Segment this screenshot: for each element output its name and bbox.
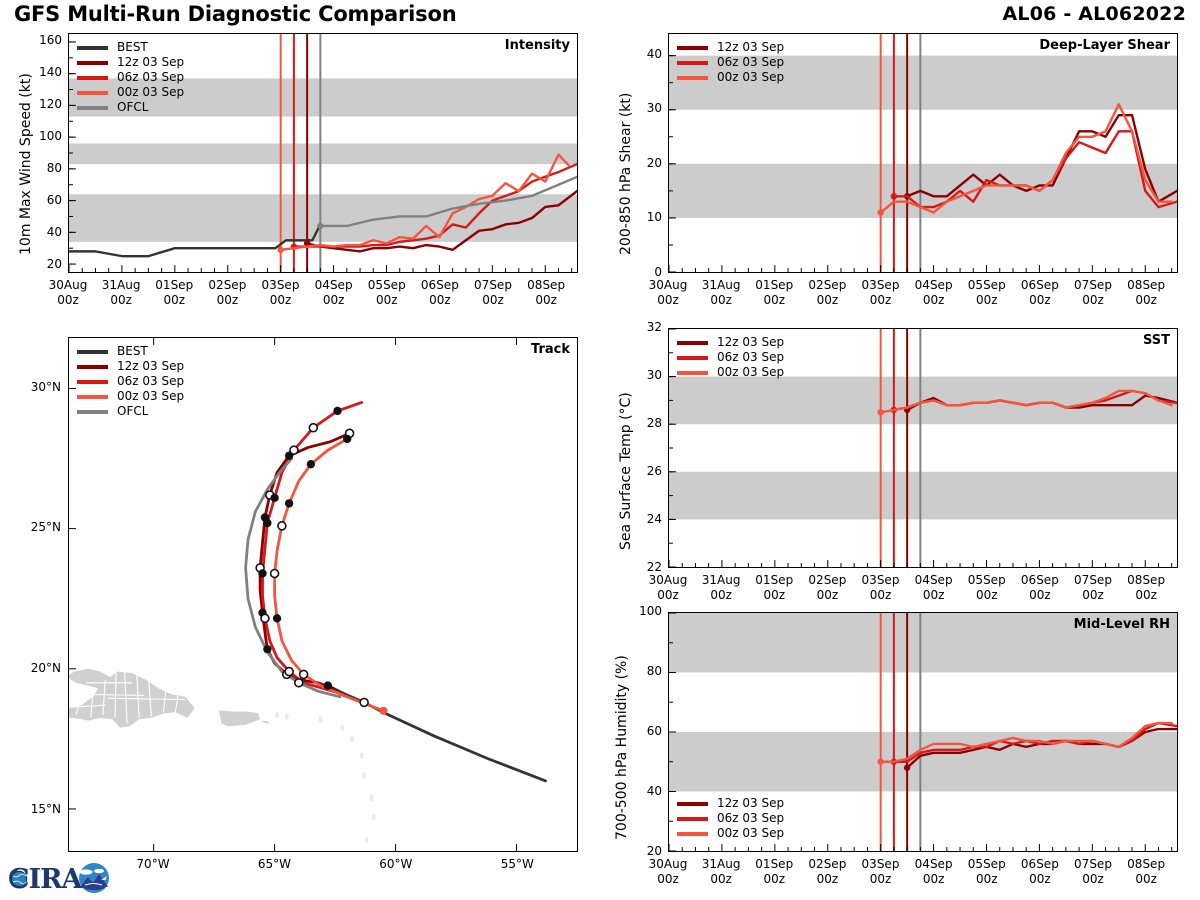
legend-label: 12z 03 Sep	[117, 359, 184, 374]
legend-label: 06z 03 Sep	[717, 55, 784, 70]
track-marker-start	[379, 707, 387, 715]
x-tick-label: 06Sep00z	[1010, 857, 1070, 887]
x-tick-label: 02Sep00z	[797, 857, 857, 887]
x-tick-label: 30Aug00z	[638, 573, 698, 603]
legend-swatch	[677, 61, 708, 65]
track-marker-00z	[273, 614, 281, 622]
legend-swatch	[77, 380, 108, 384]
x-tick-label: 30Aug00z	[638, 857, 698, 887]
shaded-band	[669, 472, 1177, 520]
x-tick-label: 07Sep00z	[1063, 278, 1123, 308]
x-tick-label: 08Sep00z	[1116, 573, 1176, 603]
legend-entry: 00z 03 Sep	[677, 826, 784, 841]
x-tick-label: 01Sep00z	[744, 278, 804, 308]
legend-entry: OFCL	[77, 100, 184, 115]
track-marker-00z	[263, 519, 271, 527]
track-panel-title: Track	[531, 342, 570, 357]
legend-entry: 00z 03 Sep	[77, 389, 184, 404]
shaded-band	[69, 143, 577, 164]
legend-entry: 00z 03 Sep	[77, 85, 184, 100]
x-tick-label: 05Sep00z	[957, 573, 1017, 603]
x-tick-label: 31Aug00z	[91, 278, 151, 308]
legend-swatch	[677, 832, 708, 836]
shear-y-axis-label: 200-850 hPa Shear (kt)	[618, 93, 634, 255]
legend-label: 00z 03 Sep	[717, 70, 784, 85]
y-tick-label: 20	[622, 844, 662, 858]
y-tick-label: 26	[622, 464, 662, 478]
x-tick-label: 30Aug00z	[38, 278, 98, 308]
sst-legend: 12z 03 Sep06z 03 Sep00z 03 Sep	[677, 335, 784, 380]
legend-swatch	[77, 365, 108, 369]
series-start-marker	[877, 759, 883, 765]
x-tick-label: 04Sep00z	[304, 278, 364, 308]
track-marker-00z	[270, 494, 278, 502]
y-tick-label: 0	[622, 265, 662, 279]
legend-entry: 06z 03 Sep	[677, 55, 784, 70]
x-tick-label: 06Sep00z	[1010, 278, 1070, 308]
shaded-band	[669, 732, 1177, 792]
track-marker-12z	[271, 569, 279, 577]
lon-tick-label: 65°W	[244, 857, 304, 872]
y-tick-label: 140	[22, 65, 62, 79]
series-start-marker	[877, 409, 883, 415]
track-marker-00z	[285, 499, 293, 507]
small-island	[360, 752, 364, 759]
legend-label: 06z 03 Sep	[117, 374, 184, 389]
rh-y-axis-label: 700-500 hPa Humidity (%)	[614, 655, 630, 840]
legend-swatch	[677, 817, 708, 821]
track-marker-00z	[258, 569, 266, 577]
lat-tick-label: 15°N	[6, 802, 61, 816]
figure-header: GFS Multi-Run Diagnostic Comparison AL06…	[0, 0, 1200, 30]
x-tick-label: 08Sep00z	[1116, 278, 1176, 308]
x-tick-label: 03Sep00z	[851, 278, 911, 308]
y-tick-label: 20	[622, 156, 662, 170]
legend-swatch	[677, 356, 708, 360]
legend-entry: 00z 03 Sep	[677, 365, 784, 380]
track-marker-12z	[309, 424, 317, 432]
legend-entry: 00z 03 Sep	[677, 70, 784, 85]
y-tick-label: 100	[22, 129, 62, 143]
series-start-marker	[277, 247, 283, 253]
cira-emblem	[79, 863, 109, 893]
legend-entry: 06z 03 Sep	[677, 811, 784, 826]
lat-tick-label: 20°N	[6, 661, 61, 675]
y-tick-label: 40	[22, 225, 62, 239]
legend-label: 12z 03 Sep	[117, 55, 184, 70]
x-tick-label: 05Sep00z	[357, 278, 417, 308]
legend-label: 00z 03 Sep	[117, 85, 184, 100]
land-shape	[263, 721, 269, 724]
small-island	[340, 724, 344, 731]
legend-swatch	[77, 61, 108, 65]
legend-entry: 06z 03 Sep	[677, 350, 784, 365]
track-marker-00z	[343, 435, 351, 443]
legend-label: 00z 03 Sep	[117, 389, 184, 404]
cira-logo: CIRA	[6, 858, 118, 898]
y-tick-label: 40	[622, 47, 662, 61]
y-tick-label: 10	[622, 210, 662, 224]
x-tick-label: 05Sep00z	[957, 278, 1017, 308]
x-tick-label: 31Aug00z	[691, 278, 751, 308]
legend-label: 06z 03 Sep	[717, 350, 784, 365]
legend-entry: BEST	[77, 344, 184, 359]
lat-tick-label: 25°N	[6, 520, 61, 534]
y-tick-label: 80	[622, 664, 662, 678]
x-tick-label: 03Sep00z	[251, 278, 311, 308]
x-tick-label: 03Sep00z	[851, 573, 911, 603]
y-tick-label: 28	[622, 416, 662, 430]
track-marker-12z	[360, 698, 368, 706]
y-tick-label: 30	[622, 101, 662, 115]
y-tick-label: 40	[622, 784, 662, 798]
sst-panel-title: SST	[1143, 333, 1170, 348]
x-tick-label: 02Sep00z	[797, 573, 857, 603]
track-legend: BEST12z 03 Sep06z 03 Sep00z 03 SepOFCL	[77, 344, 184, 419]
legend-entry: 12z 03 Sep	[677, 335, 784, 350]
legend-label: 12z 03 Sep	[717, 40, 784, 55]
legend-entry: 12z 03 Sep	[677, 796, 784, 811]
track-marker-00z	[324, 681, 332, 689]
track-marker-12z	[285, 668, 293, 676]
track-marker-00z	[307, 460, 315, 468]
rh-legend: 12z 03 Sep06z 03 Sep00z 03 Sep	[677, 796, 784, 841]
x-tick-label: 02Sep00z	[197, 278, 257, 308]
x-tick-label: 01Sep00z	[144, 278, 204, 308]
intensity-panel: Intensity BEST12z 03 Sep06z 03 Sep00z 03…	[68, 33, 578, 273]
legend-swatch	[77, 350, 108, 354]
legend-label: 00z 03 Sep	[717, 365, 784, 380]
legend-swatch	[677, 341, 708, 345]
lon-tick-label: 55°W	[487, 857, 547, 872]
x-tick-label: 06Sep00z	[1010, 573, 1070, 603]
x-tick-label: 07Sep00z	[1063, 573, 1123, 603]
legend-entry: 06z 03 Sep	[77, 70, 184, 85]
series-start-marker	[904, 765, 910, 771]
x-tick-label: 02Sep00z	[797, 278, 857, 308]
legend-label: 06z 03 Sep	[717, 811, 784, 826]
x-tick-label: 05Sep00z	[957, 857, 1017, 887]
y-tick-label: 32	[622, 320, 662, 334]
lon-tick-label: 60°W	[366, 857, 426, 872]
track-marker-12z	[278, 522, 286, 530]
legend-label: BEST	[117, 40, 148, 55]
legend-entry: BEST	[77, 40, 184, 55]
legend-entry: 12z 03 Sep	[77, 55, 184, 70]
legend-label: 06z 03 Sep	[117, 70, 184, 85]
legend-entry: 12z 03 Sep	[77, 359, 184, 374]
y-tick-label: 80	[22, 161, 62, 175]
track-marker-00z	[263, 645, 271, 653]
cira-wordmark: CIRA	[8, 864, 84, 895]
x-tick-label: 30Aug00z	[638, 278, 698, 308]
page-title: GFS Multi-Run Diagnostic Comparison	[14, 2, 456, 26]
x-tick-label: 08Sep00z	[516, 278, 576, 308]
x-tick-label: 08Sep00z	[1116, 857, 1176, 887]
x-tick-label: 31Aug00z	[691, 573, 751, 603]
x-tick-label: 01Sep00z	[744, 573, 804, 603]
track-marker-12z	[300, 670, 308, 678]
small-island	[285, 713, 289, 720]
legend-entry: 06z 03 Sep	[77, 374, 184, 389]
legend-swatch	[77, 395, 108, 399]
legend-label: OFCL	[117, 100, 148, 115]
x-tick-label: 06Sep00z	[410, 278, 470, 308]
y-tick-label: 60	[622, 724, 662, 738]
small-island	[350, 735, 354, 742]
track-marker-12z	[295, 679, 303, 687]
shear-panel: Deep-Layer Shear 12z 03 Sep06z 03 Sep00z…	[668, 33, 1178, 273]
legend-swatch	[677, 46, 708, 50]
small-island	[275, 712, 279, 719]
legend-label: BEST	[117, 344, 148, 359]
series-start-marker	[891, 193, 897, 199]
x-tick-label: 07Sep00z	[1063, 857, 1123, 887]
y-tick-label: 100	[622, 604, 662, 618]
small-island	[372, 814, 376, 821]
legend-swatch	[677, 371, 708, 375]
sst-panel: SST 12z 03 Sep06z 03 Sep00z 03 Sep	[668, 328, 1178, 568]
x-tick-label: 31Aug00z	[691, 857, 751, 887]
track-marker-00z	[333, 407, 341, 415]
x-tick-label: 04Sep00z	[904, 857, 964, 887]
y-tick-label: 22	[622, 560, 662, 574]
legend-label: 00z 03 Sep	[717, 826, 784, 841]
legend-label: 12z 03 Sep	[717, 796, 784, 811]
land-shape	[219, 710, 260, 726]
legend-swatch	[77, 91, 108, 95]
legend-swatch	[77, 76, 108, 80]
y-tick-label: 30	[622, 368, 662, 382]
shear-panel-title: Deep-Layer Shear	[1039, 38, 1170, 53]
figure-root: GFS Multi-Run Diagnostic Comparison AL06…	[0, 0, 1200, 900]
y-tick-label: 160	[22, 33, 62, 47]
track-marker-12z	[290, 446, 298, 454]
legend-swatch	[77, 410, 108, 414]
legend-swatch	[77, 106, 108, 110]
x-tick-label: 03Sep00z	[851, 857, 911, 887]
y-tick-label: 20	[22, 257, 62, 271]
legend-swatch	[677, 76, 708, 80]
track-panel: Track BEST12z 03 Sep06z 03 Sep00z 03 Sep…	[68, 337, 578, 852]
intensity-legend: BEST12z 03 Sep06z 03 Sep00z 03 SepOFCL	[77, 40, 184, 115]
x-tick-label: 01Sep00z	[744, 857, 804, 887]
x-tick-label: 07Sep00z	[463, 278, 523, 308]
legend-label: OFCL	[117, 404, 148, 419]
small-island	[319, 716, 323, 723]
lon-tick-label: 70°W	[123, 857, 183, 872]
lat-tick-label: 30°N	[6, 380, 61, 394]
small-island	[365, 836, 369, 843]
rh-panel-title: Mid-Level RH	[1074, 617, 1170, 632]
legend-label: 12z 03 Sep	[717, 335, 784, 350]
legend-swatch	[677, 802, 708, 806]
legend-entry: 12z 03 Sep	[677, 40, 784, 55]
intensity-panel-title: Intensity	[505, 38, 570, 53]
y-tick-label: 60	[22, 193, 62, 207]
small-island	[369, 794, 373, 801]
storm-id-label: AL06 - AL062022	[1003, 3, 1187, 25]
x-tick-label: 04Sep00z	[904, 573, 964, 603]
shear-legend: 12z 03 Sep06z 03 Sep00z 03 Sep	[677, 40, 784, 85]
rh-panel: Mid-Level RH 12z 03 Sep06z 03 Sep00z 03 …	[668, 612, 1178, 852]
series-start-marker	[317, 223, 323, 229]
track-marker-12z	[261, 614, 269, 622]
y-tick-label: 120	[22, 97, 62, 111]
series-start-marker	[877, 209, 883, 215]
legend-swatch	[77, 46, 108, 50]
small-island	[362, 772, 366, 779]
y-tick-label: 24	[622, 512, 662, 526]
x-tick-label: 04Sep00z	[904, 278, 964, 308]
legend-entry: OFCL	[77, 404, 184, 419]
